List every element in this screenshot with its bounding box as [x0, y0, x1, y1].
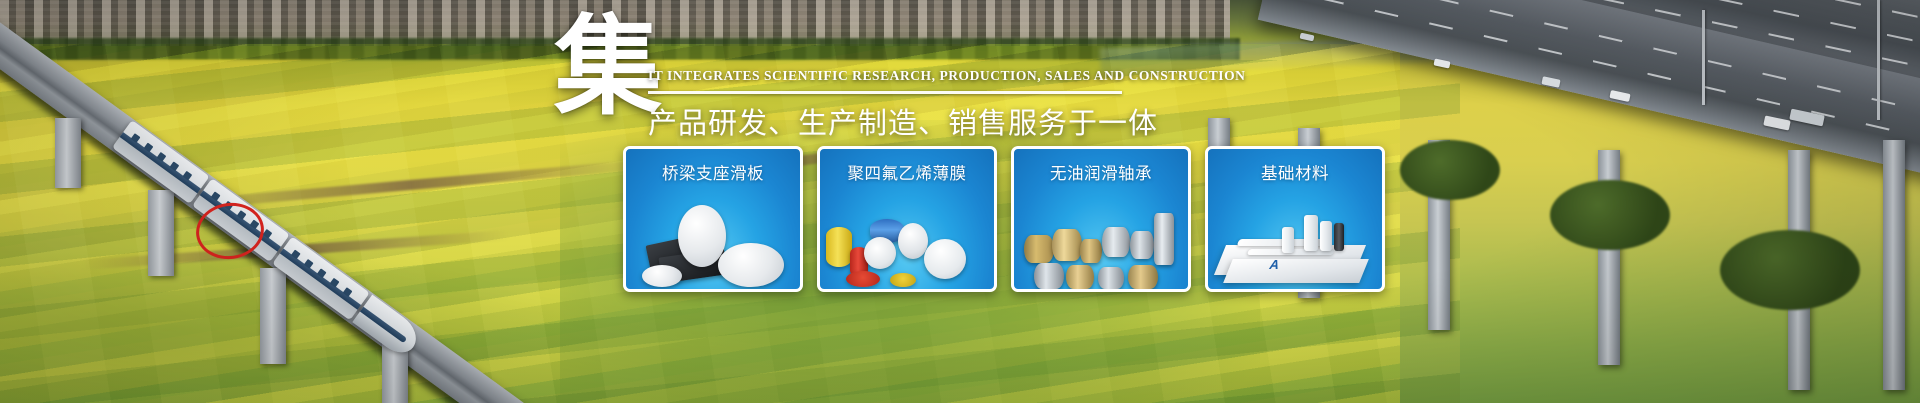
- product-card-title: 桥梁支座滑板: [626, 160, 800, 184]
- product-card-ptfe-film[interactable]: 聚四氟乙烯薄膜: [817, 146, 997, 292]
- bearing-bush: [1024, 235, 1054, 263]
- product-card-title: 无油润滑轴承: [1014, 160, 1188, 184]
- product-card-title: 基础材料: [1208, 160, 1382, 184]
- material-cylinder: [1282, 227, 1294, 253]
- product-card-image-bridge-bearing-slide-plates: [626, 193, 800, 289]
- material-cylinder: [1304, 215, 1318, 251]
- hero-banner: 集 IT INTEGRATES SCIENTIFIC RESEARCH, PRO…: [0, 0, 1920, 403]
- ptfe-disc: [642, 265, 682, 287]
- bearing-bush: [1128, 265, 1158, 289]
- seal-ring-yellow: [890, 273, 916, 287]
- film-roll-white: [924, 239, 966, 279]
- headline-block: 集 IT INTEGRATES SCIENTIFIC RESEARCH, PRO…: [548, 18, 1148, 148]
- bearing-bush-steel: [1130, 231, 1154, 259]
- bearing-bush-steel: [1102, 227, 1130, 257]
- film-roll-white: [864, 237, 896, 269]
- product-card-title: 聚四氟乙烯薄膜: [820, 160, 994, 184]
- material-slab: [1223, 259, 1369, 283]
- chinese-tagline: 产品研发、生产制造、销售服务于一体: [648, 100, 1158, 142]
- bearing-bush: [1052, 229, 1082, 261]
- seal-ring-red: [846, 271, 880, 287]
- big-chinese-character: 集: [554, 14, 662, 122]
- product-card-list: 桥梁支座滑板 聚四氟乙烯薄膜 无油润滑轴承: [623, 146, 1385, 292]
- material-cylinder-black: [1334, 223, 1344, 251]
- product-card-base-materials[interactable]: 基础材料 A: [1205, 146, 1385, 292]
- bearing-bush-steel: [1098, 267, 1124, 289]
- bearing-bush-steel: [1034, 263, 1064, 289]
- bearing-bush: [1066, 265, 1094, 289]
- film-roll-yellow: [826, 227, 852, 267]
- product-card-oil-free-bearings[interactable]: 无油润滑轴承: [1011, 146, 1191, 292]
- product-card-image-ptfe-film: [820, 193, 994, 289]
- english-tagline: IT INTEGRATES SCIENTIFIC RESEARCH, PRODU…: [648, 68, 1245, 84]
- product-card-image-base-materials: A: [1208, 193, 1382, 289]
- material-cylinder: [1320, 221, 1332, 251]
- headline-divider-rule: [648, 91, 1122, 94]
- ptfe-disc: [718, 243, 784, 287]
- product-card-image-oil-free-bearings: [1014, 193, 1188, 289]
- bearing-sleeve-long: [1154, 213, 1174, 265]
- product-card-bridge-bearing-slide-plates[interactable]: 桥梁支座滑板: [623, 146, 803, 292]
- film-roll-white: [898, 223, 928, 259]
- bearing-bush: [1080, 239, 1102, 263]
